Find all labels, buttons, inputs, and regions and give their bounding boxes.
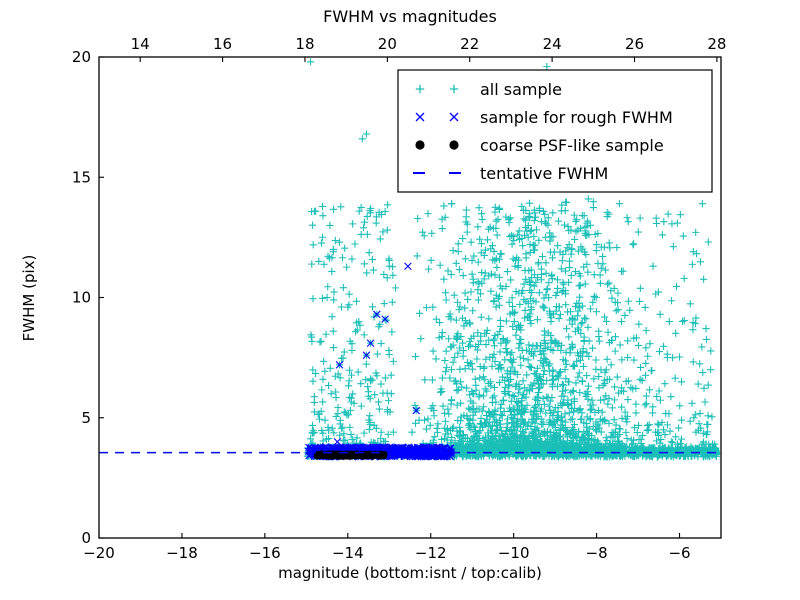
- x-tick-label-bottom: −6: [668, 544, 690, 562]
- legend-item-label: all sample: [480, 80, 562, 99]
- y-tick-label: 15: [72, 168, 91, 186]
- legend-item-label: coarse PSF-like sample: [480, 136, 664, 155]
- x-axis-label: magnitude (bottom:isnt / top:calib): [278, 564, 542, 582]
- x-tick-label-bottom: −10: [498, 544, 530, 562]
- x-tick-label-top: 14: [131, 35, 150, 53]
- x-tick-label-top: 26: [625, 35, 644, 53]
- x-tick-label-bottom: −16: [249, 544, 281, 562]
- series-coarse-psf-like-sample: [314, 450, 388, 459]
- x-tick-label-top: 16: [213, 35, 232, 53]
- y-tick-label: 20: [72, 48, 91, 66]
- legend-item-label: tentative FWHM: [480, 164, 608, 183]
- y-axis-label: FWHM (pix): [20, 255, 38, 342]
- x-tick-label-top: 18: [295, 35, 314, 53]
- page-title: FWHM vs magnitudes: [323, 7, 497, 26]
- legend-item-label: sample for rough FWHM: [480, 108, 673, 127]
- x-tick-label-top: 28: [707, 35, 726, 53]
- plot-svg: FWHM vs magnitudes −20−18−16−14−12−10−8−…: [0, 0, 800, 600]
- x-tick-label-bottom: −14: [332, 544, 364, 562]
- y-tick-label: 10: [72, 289, 91, 307]
- y-tick-label: 0: [81, 529, 91, 547]
- x-tick-label-bottom: −8: [586, 544, 608, 562]
- x-tick-label-bottom: −12: [415, 544, 447, 562]
- x-tick-label-top: 22: [460, 35, 479, 53]
- figure-canvas: FWHM vs magnitudes −20−18−16−14−12−10−8−…: [0, 0, 800, 600]
- x-tick-label-top: 24: [543, 35, 562, 53]
- legend: all samplesample for rough FWHMcoarse PS…: [398, 70, 712, 192]
- y-tick-label: 5: [81, 409, 91, 427]
- x-tick-label-top: 20: [378, 35, 397, 53]
- x-tick-label-bottom: −18: [166, 544, 198, 562]
